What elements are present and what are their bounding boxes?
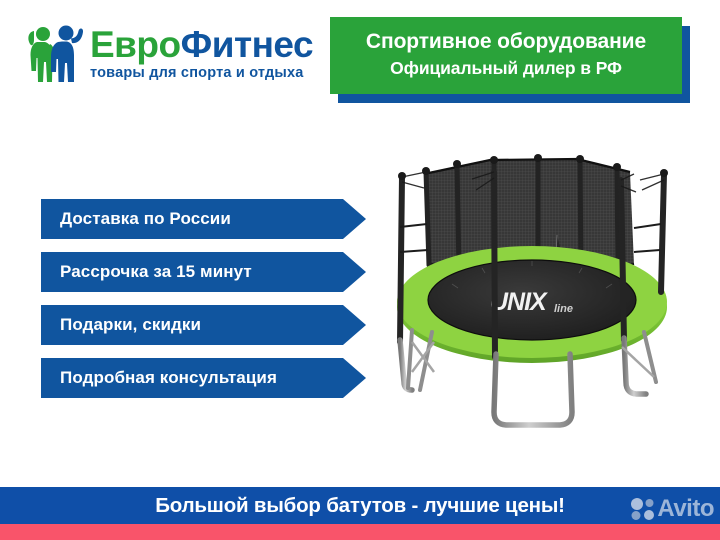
feature-item-delivery[interactable]: Доставка по России bbox=[41, 199, 366, 239]
product-image-trampoline: UNIX line bbox=[372, 132, 702, 462]
feature-list: Доставка по России Рассрочка за 15 минут… bbox=[41, 199, 366, 398]
feature-label: Доставка по России bbox=[60, 209, 231, 229]
avito-watermark: Avito bbox=[630, 494, 714, 524]
footer-accent-stripe bbox=[0, 524, 720, 540]
feature-label: Подарки, скидки bbox=[60, 315, 201, 335]
feature-item-consultation[interactable]: Подробная консультация bbox=[41, 358, 366, 398]
brand-logo: ЕвроФитнес товары для спорта и отдыха bbox=[24, 16, 324, 90]
svg-text:line: line bbox=[554, 303, 573, 315]
logo-name: ЕвроФитнес bbox=[90, 26, 313, 63]
feature-item-installment[interactable]: Рассрочка за 15 минут bbox=[41, 252, 366, 292]
advertisement-canvas: ЕвроФитнес товары для спорта и отдыха Сп… bbox=[0, 0, 720, 540]
feature-label: Подробная консультация bbox=[60, 368, 277, 388]
logo-name-part-green: Евро bbox=[90, 24, 181, 65]
headline-primary: Спортивное оборудование bbox=[366, 30, 646, 54]
logo-name-part-blue: Фитнес bbox=[181, 24, 313, 65]
avito-dots-icon bbox=[630, 497, 656, 521]
avito-wordmark: Avito bbox=[657, 495, 714, 523]
logo-tagline: товары для спорта и отдыха bbox=[90, 66, 313, 81]
svg-text:UNIX: UNIX bbox=[490, 288, 548, 316]
fitness-people-icon bbox=[24, 22, 88, 84]
logo-wordmark: ЕвроФитнес товары для спорта и отдыха bbox=[90, 26, 313, 81]
feature-label: Рассрочка за 15 минут bbox=[60, 262, 252, 282]
headline-secondary: Официальный дилер в РФ bbox=[390, 58, 622, 79]
headline-banner: Спортивное оборудование Официальный диле… bbox=[330, 17, 682, 94]
footer-headline: Большой выбор батутов - лучшие цены! bbox=[155, 494, 565, 518]
feature-item-gifts[interactable]: Подарки, скидки bbox=[41, 305, 366, 345]
footer-banner: Большой выбор батутов - лучшие цены! bbox=[0, 487, 720, 524]
